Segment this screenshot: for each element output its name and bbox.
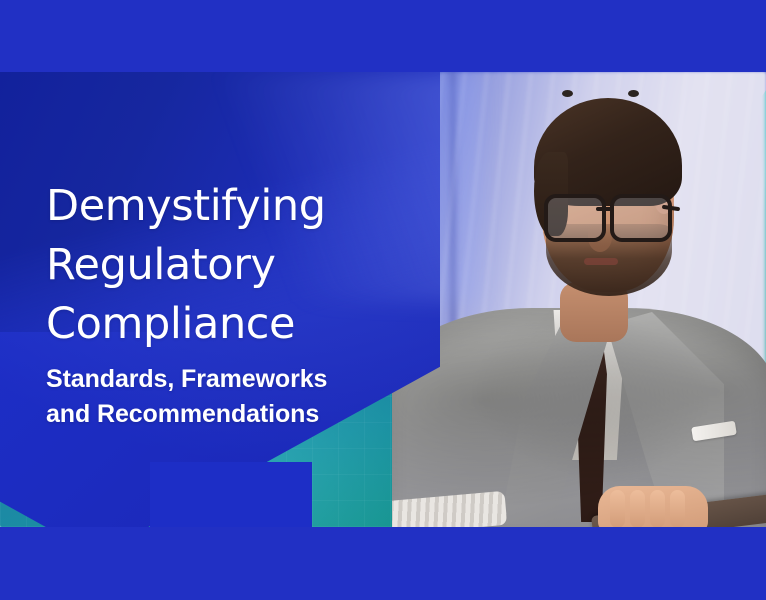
banner-copy: Demystifying Regulatory Compliance Stand… [0,72,766,527]
bottom-frame-band [0,527,766,600]
headline-line-1: Demystifying [46,177,386,236]
top-frame-band [0,0,766,72]
page-subtitle: Standards, Frameworks and Recommendation… [46,362,376,432]
banner-artwork: Demystifying Regulatory Compliance Stand… [0,72,766,527]
headline-line-3: Compliance [46,295,386,354]
subheadline-line-1: Standards, Frameworks [46,362,376,397]
headline-line-2: Regulatory [46,236,386,295]
subheadline-line-2: and Recommendations [46,397,376,432]
promo-banner: Demystifying Regulatory Compliance Stand… [0,0,766,600]
page-title: Demystifying Regulatory Compliance [46,177,386,354]
